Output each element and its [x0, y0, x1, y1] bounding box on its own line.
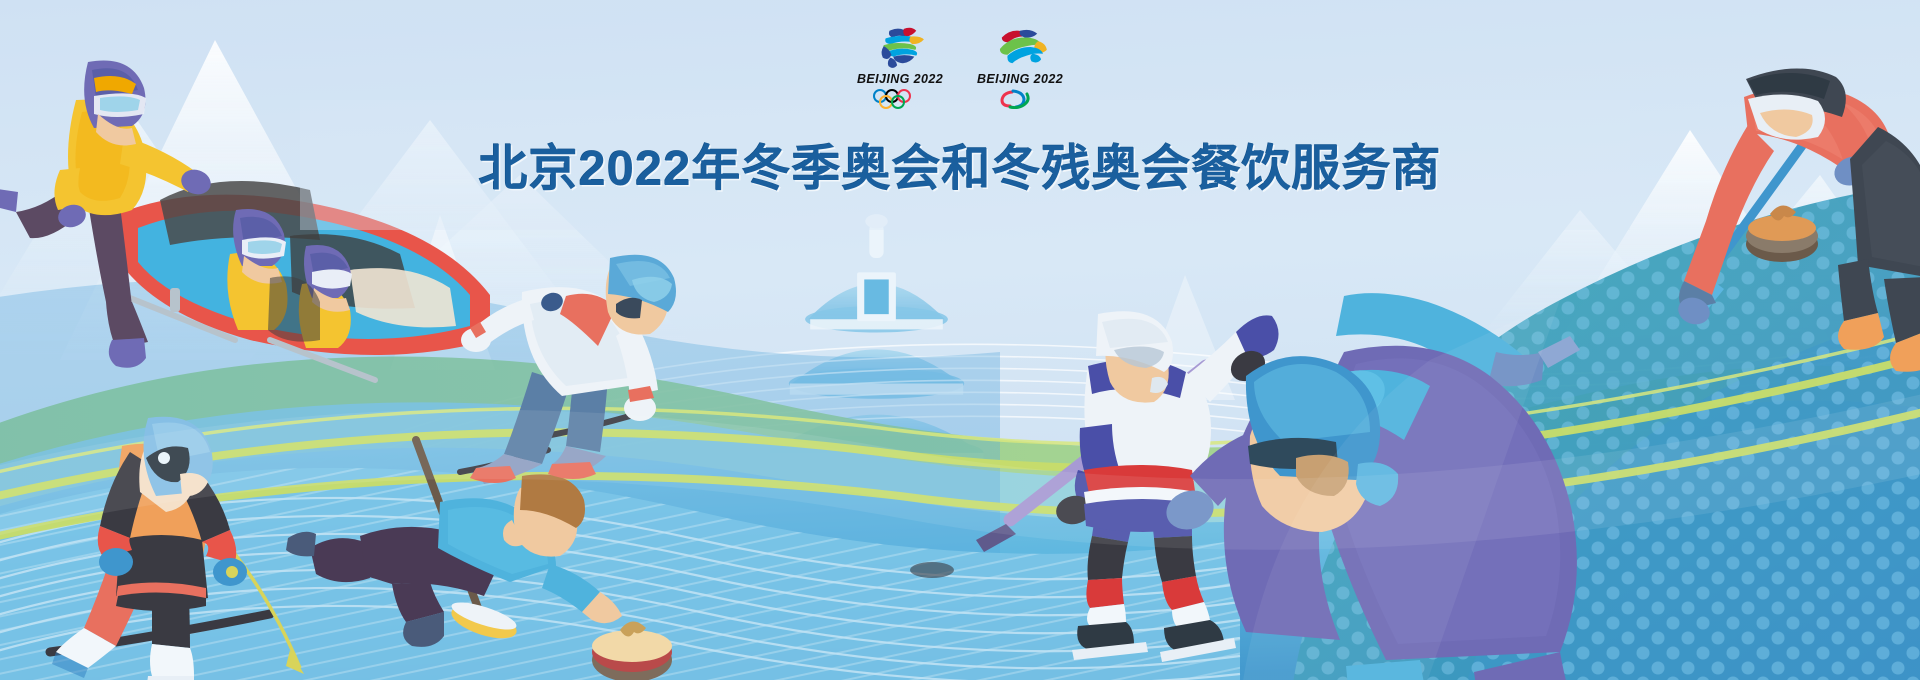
- paralympic-agitos-icon: [991, 89, 1049, 109]
- paralympic-emblem[interactable]: BEIJING 2022: [972, 26, 1068, 109]
- hockey-puck: [910, 562, 954, 578]
- paralympic-emblem-icon: [983, 26, 1057, 70]
- olympic-banner: BEIJING 2022: [0, 0, 1920, 680]
- olympic-emblem[interactable]: BEIJING 2022: [852, 26, 948, 109]
- olympic-emblem-icon: [863, 26, 937, 70]
- paralympic-wordmark: BEIJING 2022: [977, 72, 1063, 86]
- page-title: 北京2022年冬季奥会和冬残奥会餐饮服务商: [478, 129, 1441, 200]
- olympic-wordmark: BEIJING 2022: [857, 72, 943, 86]
- olympic-rings-icon: [871, 89, 929, 109]
- emblem-row: BEIJING 2022: [852, 26, 1068, 109]
